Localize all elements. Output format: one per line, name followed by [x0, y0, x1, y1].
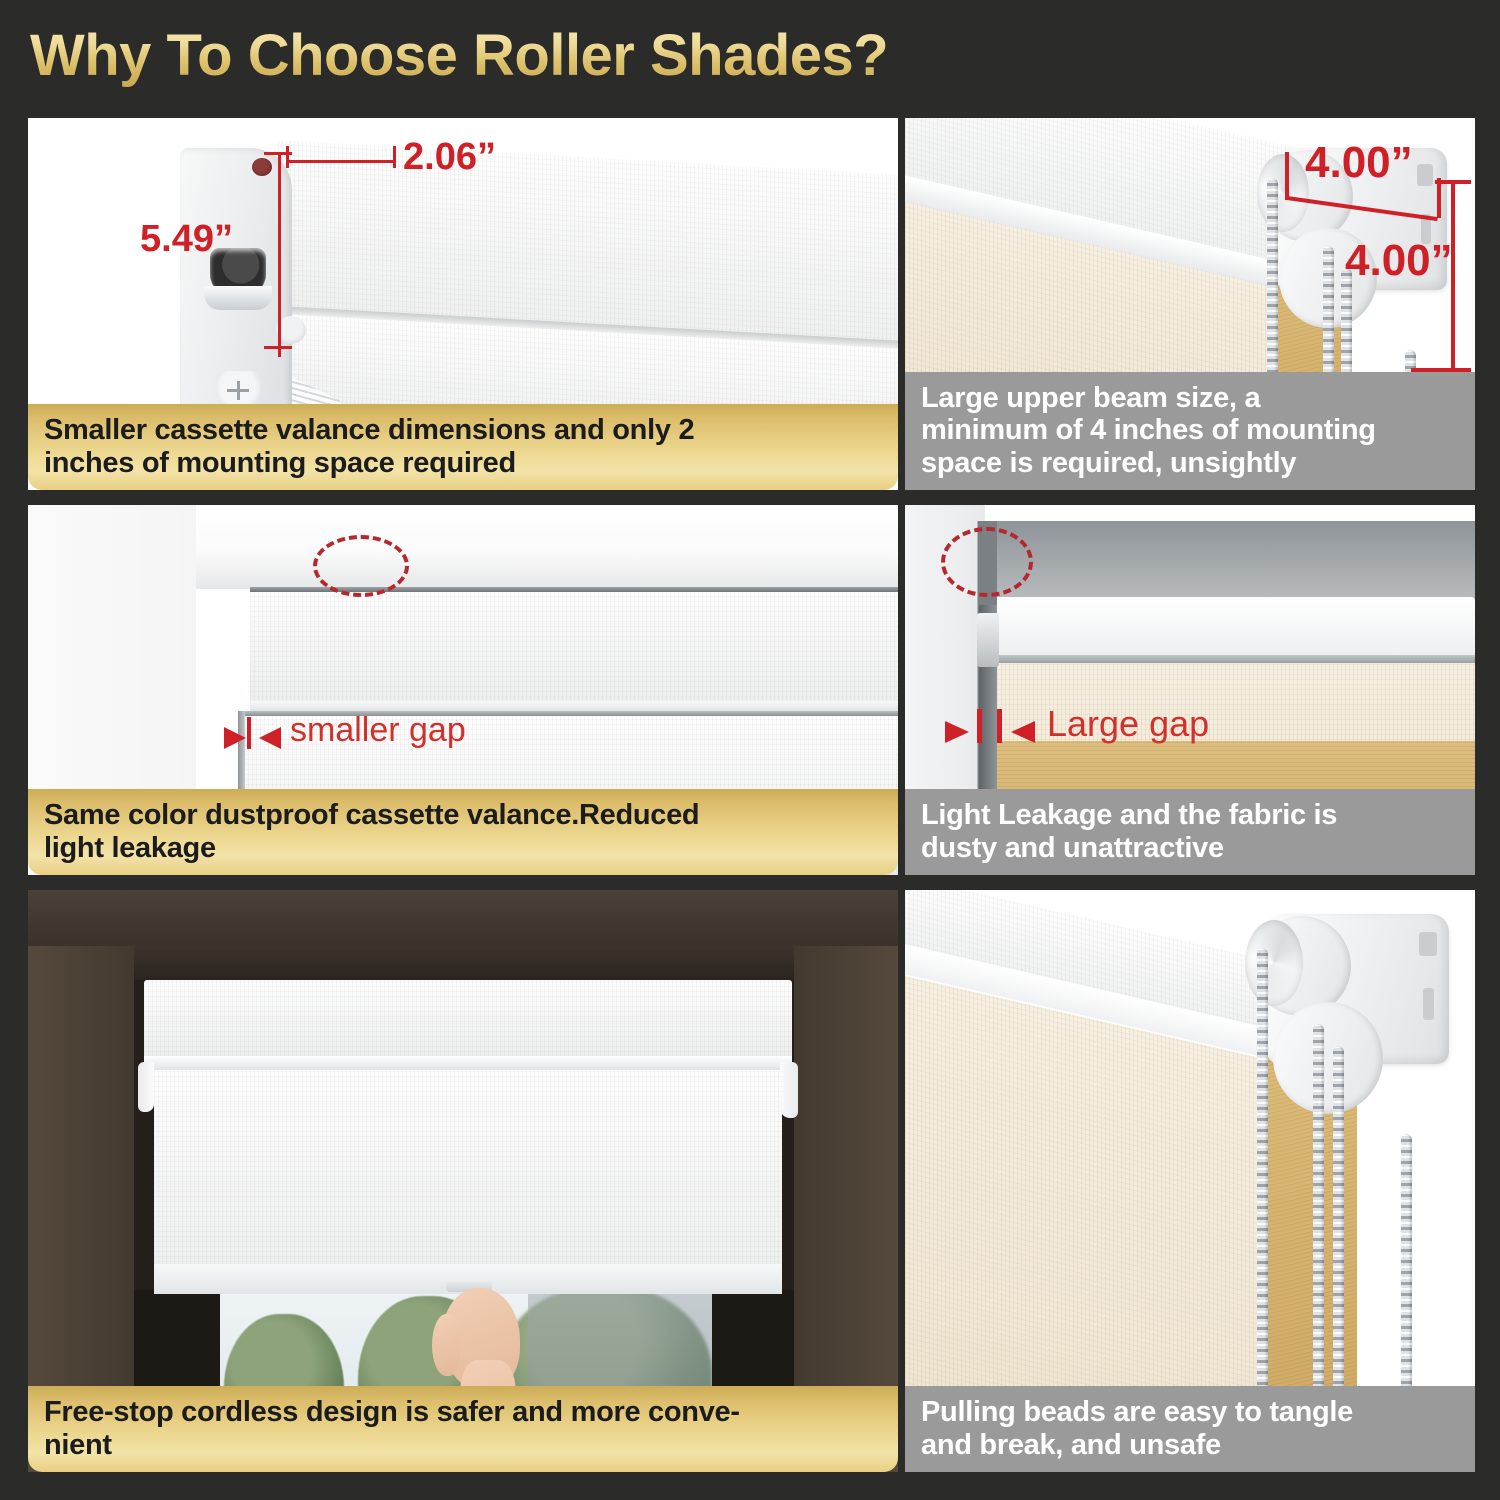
beam-width-dimension-label: 4.00”	[1305, 138, 1413, 188]
panel-5-caption-line-1: Free-stop cordless design is safer and m…	[44, 1396, 884, 1429]
cassette-valance-face	[250, 592, 898, 707]
large-gap-label: Large gap	[1047, 703, 1209, 745]
panel-light-leakage-dusty-fabric: Large gap Light Leakage and the fabric i…	[905, 505, 1475, 875]
panel-2-photo: 4.00” 4.00” Large upper beam size, a min…	[905, 118, 1475, 490]
smaller-gap-marker-line	[247, 717, 251, 749]
depth-dim-tick-left	[286, 146, 289, 168]
panel-3-caption-line-2: light leakage	[44, 832, 884, 865]
panel-4-caption-line-1: Light Leakage and the fabric is	[921, 799, 1461, 832]
smaller-gap-label: smaller gap	[290, 711, 466, 750]
panel-6-caption-line-2: and break, and unsafe	[921, 1429, 1461, 1462]
shade-fabric-panel	[154, 1070, 782, 1292]
panel-3-photo: smaller gap Same color dustproof cassett…	[28, 505, 898, 875]
beam-height-dimension-label: 4.00”	[1345, 236, 1453, 286]
panel-6-caption-line-1: Pulling beads are easy to tangle	[921, 1396, 1461, 1429]
valance-bottom-lip	[144, 1056, 792, 1070]
panel-5-caption-line-2: nient	[44, 1429, 884, 1462]
panel-large-upper-beam: 4.00” 4.00” Large upper beam size, a min…	[905, 118, 1475, 490]
height-dim-line	[278, 152, 281, 357]
window-head-trim	[196, 505, 898, 589]
roller-end-disc	[1257, 154, 1309, 232]
bracket-stub	[977, 613, 999, 667]
smaller-gap-arrow-left	[224, 727, 246, 749]
height-dimension-label: 5.49”	[140, 218, 233, 261]
window-recess-head	[134, 946, 794, 980]
panel-6-caption: Pulling beads are easy to tangle and bre…	[905, 1386, 1475, 1472]
bracket-slot-mark-1	[1417, 164, 1433, 186]
panel-5-photo: Free-stop cordless design is safer and m…	[28, 890, 898, 1472]
valance-end-cap-left	[138, 1062, 154, 1112]
panel-6-photo: Pulling beads are easy to tangle and bre…	[905, 890, 1475, 1472]
beam-height-tick-top	[1435, 180, 1471, 184]
panel-1-caption: Smaller cassette valance dimensions and …	[28, 404, 898, 490]
panel-dustproof-cassette-valance: smaller gap Same color dustproof cassett…	[28, 505, 898, 875]
panel-2-caption-line-2: minimum of 4 inches of mounting	[921, 414, 1461, 447]
panel-2-caption: Large upper beam size, a minimum of 4 in…	[905, 372, 1475, 490]
roller-bracket-lobe-lower	[1273, 1002, 1383, 1114]
panel-4-photo: Large gap Light Leakage and the fabric i…	[905, 505, 1475, 875]
panel-5-caption: Free-stop cordless design is safer and m…	[28, 1386, 898, 1472]
light-leak-dashed-circle	[941, 527, 1033, 597]
panel-2-caption-line-1: Large upper beam size, a	[921, 382, 1461, 415]
shade-top-edge-shadow	[989, 655, 1475, 663]
large-gap-marker-line-2	[997, 709, 1002, 743]
roller-bracket-slot-1	[1419, 932, 1437, 956]
large-gap-arrow-left	[945, 721, 969, 743]
panel-1-caption-line-1: Smaller cassette valance dimensions and …	[44, 414, 884, 447]
cassette-valance-front	[144, 980, 792, 1062]
hand-thumb	[432, 1314, 460, 1376]
large-gap-marker-line-1	[977, 709, 982, 743]
smaller-gap-arrow-right	[259, 727, 281, 749]
tight-seam-dashed-circle	[313, 535, 409, 597]
height-dim-tick-bottom	[264, 346, 292, 349]
panel-4-caption-line-2: dusty and unattractive	[921, 832, 1461, 865]
roller-tube-white	[989, 597, 1475, 659]
panel-4-caption: Light Leakage and the fabric is dusty an…	[905, 789, 1475, 875]
page-title: Why To Choose Roller Shades?	[30, 22, 888, 89]
roller-bracket-slot-2	[1423, 988, 1434, 1020]
large-gap-arrow-right	[1011, 721, 1035, 743]
room-wall-right	[778, 890, 898, 1472]
panel-2-caption-line-3: space is required, unsightly	[921, 447, 1461, 480]
panel-1-caption-line-2: inches of mounting space required	[44, 447, 884, 480]
panel-free-stop-cordless-design: Free-stop cordless design is safer and m…	[28, 890, 898, 1472]
room-wall-top	[28, 890, 898, 946]
depth-dimension-label: 2.06”	[403, 136, 496, 179]
end-cap-pin	[252, 158, 272, 176]
infographic-root: Why To Choose Roller Shades? 2.06” 5.4	[0, 0, 1500, 1500]
panel-1-photo: 2.06” 5.49” Smaller cassette valance dim…	[28, 118, 898, 490]
roller-end-disc-large	[1245, 920, 1303, 1006]
depth-dim-line	[286, 160, 396, 163]
height-dim-tick-top	[264, 152, 292, 155]
panel-3-caption: Same color dustproof cassette valance.Re…	[28, 789, 898, 875]
valance-end-cap-right	[780, 1062, 798, 1118]
cassette-end-cap	[180, 148, 292, 433]
beam-width-tick-right	[1437, 178, 1441, 218]
panel-3-caption-line-1: Same color dustproof cassette valance.Re…	[44, 799, 884, 832]
panel-pulling-beads-tangle: Pulling beads are easy to tangle and bre…	[905, 890, 1475, 1472]
room-wall-left	[28, 890, 148, 1472]
panel-cassette-valance-dimensions: 2.06” 5.49” Smaller cassette valance dim…	[28, 118, 898, 490]
depth-dim-tick-right	[393, 146, 396, 168]
beam-width-tick-left	[1285, 152, 1289, 200]
